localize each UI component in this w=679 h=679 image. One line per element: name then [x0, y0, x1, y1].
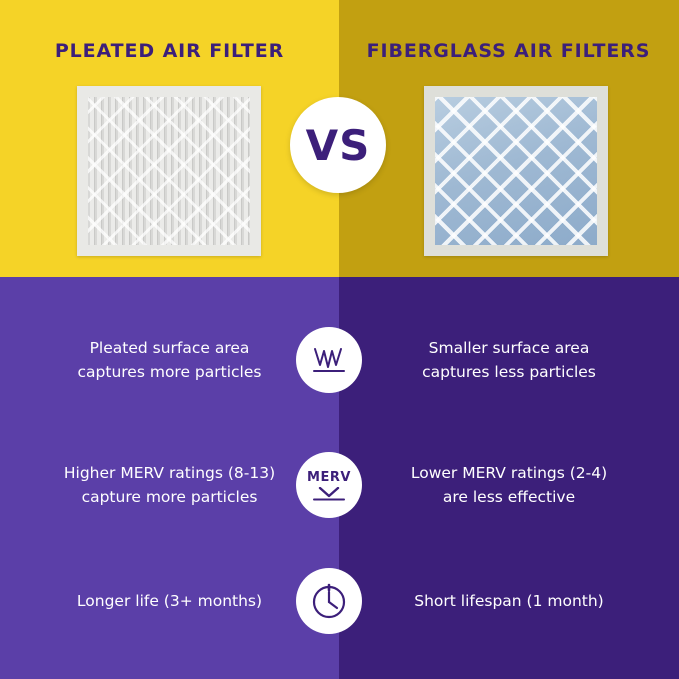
row-1-right-line-2: captures less particles [367, 360, 651, 384]
row-2-left-line-1: Higher MERV ratings (8-13) [28, 461, 311, 485]
row-1-left-line-1: Pleated surface area [28, 336, 311, 360]
comparison-infographic: PLEATED AIR FILTER FIBERGLASS AIR FILTER… [0, 0, 679, 679]
pleat-zigzag-icon [296, 327, 362, 393]
merv-rating-icon: MERV [296, 452, 362, 518]
row-2-left-line-2: capture more particles [28, 485, 311, 509]
row-3-left-text: Longer life (3+ months) [0, 589, 339, 613]
row-1-left-line-2: captures more particles [28, 360, 311, 384]
row-1-right-text: Smaller surface area captures less parti… [339, 336, 679, 384]
merv-icon-label: MERV [307, 470, 351, 485]
clock-icon [296, 568, 362, 634]
pleated-heading: PLEATED AIR FILTER [0, 40, 339, 62]
row-3-right-text: Short lifespan (1 month) [339, 589, 679, 613]
row-3-right-line-1: Short lifespan (1 month) [367, 589, 651, 613]
fiberglass-heading: FIBERGLASS AIR FILTERS [339, 40, 678, 62]
row-2-right-text: Lower MERV ratings (2-4) are less effect… [339, 461, 679, 509]
fiberglass-filter-frame [424, 86, 608, 256]
row-1-right-line-1: Smaller surface area [367, 336, 651, 360]
fiberglass-filter-image [424, 86, 608, 256]
pleated-filter-frame [77, 86, 261, 256]
pleated-filter-image [77, 86, 261, 256]
row-2-right-line-2: are less effective [367, 485, 651, 509]
row-2-right-line-1: Lower MERV ratings (2-4) [367, 461, 651, 485]
vs-label: VS [306, 121, 371, 170]
merv-icon-inner: MERV [307, 470, 351, 501]
row-3-left-line-1: Longer life (3+ months) [28, 589, 311, 613]
row-2-left-text: Higher MERV ratings (8-13) capture more … [0, 461, 339, 509]
row-1-left-text: Pleated surface area captures more parti… [0, 336, 339, 384]
vs-badge: VS [290, 97, 386, 193]
